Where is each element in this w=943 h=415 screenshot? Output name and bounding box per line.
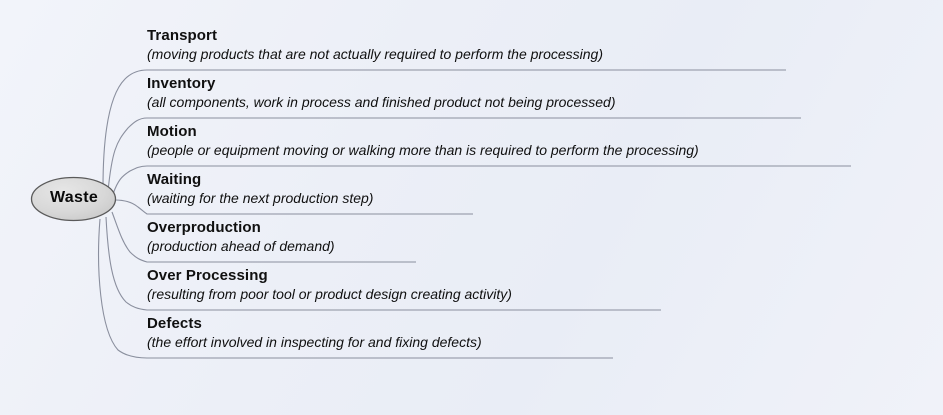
center-node-label: Waste [32, 189, 116, 207]
mind-map-diagram: Waste Transport (moving products that ar… [0, 0, 943, 415]
branch-over-processing[interactable]: Over Processing (resulting from poor too… [147, 267, 512, 303]
branch-title: Inventory [147, 75, 615, 92]
branch-title: Motion [147, 123, 699, 140]
branch-description: (moving products that are not actually r… [147, 46, 603, 63]
branch-overproduction[interactable]: Overproduction (production ahead of dema… [147, 219, 335, 255]
branch-waiting[interactable]: Waiting (waiting for the next production… [147, 171, 373, 207]
branch-motion[interactable]: Motion (people or equipment moving or wa… [147, 123, 699, 159]
branch-description: (people or equipment moving or walking m… [147, 142, 699, 159]
branch-inventory[interactable]: Inventory (all components, work in proce… [147, 75, 615, 111]
branch-description: (the effort involved in inspecting for a… [147, 334, 482, 351]
branch-description: (production ahead of demand) [147, 238, 335, 255]
branch-title: Transport [147, 27, 603, 44]
branch-title: Over Processing [147, 267, 512, 284]
branch-description: (all components, work in process and fin… [147, 94, 615, 111]
branch-description: (resulting from poor tool or product des… [147, 286, 512, 303]
branch-title: Waiting [147, 171, 373, 188]
branch-description: (waiting for the next production step) [147, 190, 373, 207]
branch-transport[interactable]: Transport (moving products that are not … [147, 27, 603, 63]
branch-defects[interactable]: Defects (the effort involved in inspecti… [147, 315, 482, 351]
branch-title: Overproduction [147, 219, 335, 236]
branch-title: Defects [147, 315, 482, 332]
